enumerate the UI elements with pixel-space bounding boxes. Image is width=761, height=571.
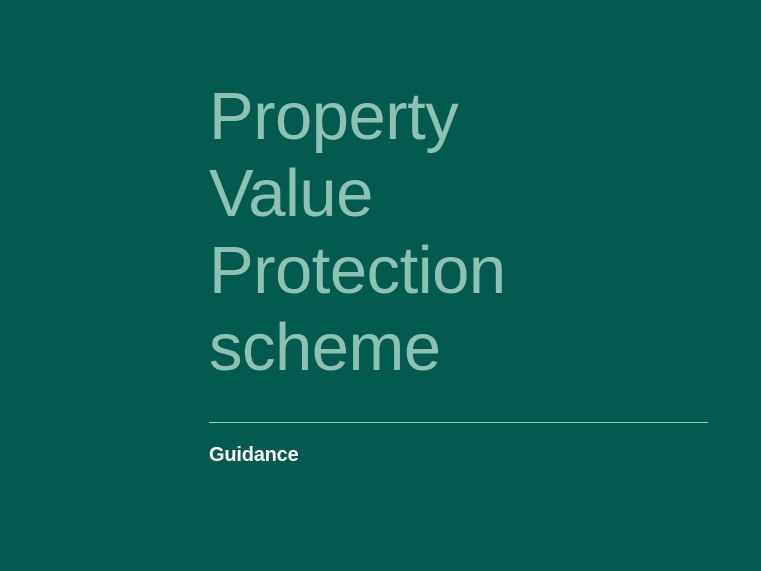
document-type-label: Guidance (209, 443, 299, 467)
page-title: Property Value Protection scheme (209, 78, 708, 386)
document-cover-page: Property Value Protection scheme Guidanc… (0, 0, 761, 571)
title-divider-rule (209, 422, 708, 423)
